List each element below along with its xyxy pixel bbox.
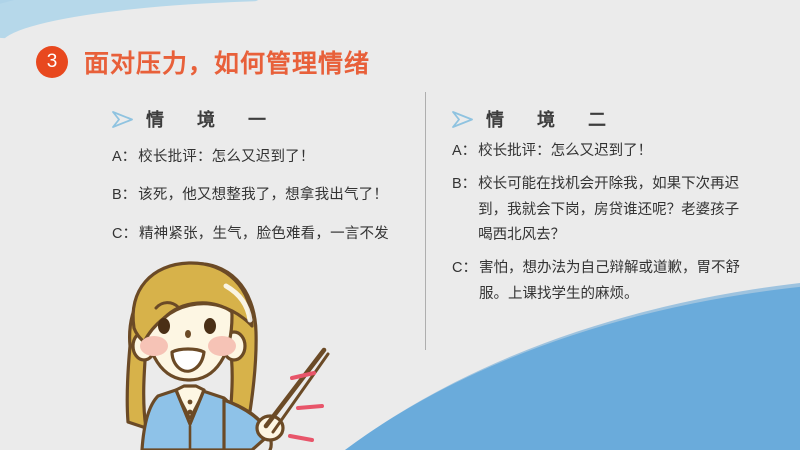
triangle-arrow-icon <box>452 111 474 128</box>
situation-two-title: 情 境 二 <box>486 106 620 132</box>
cartoon-teacher-svg <box>100 250 335 450</box>
situation-two-column: 情 境 二 A： 校长批评：怎么又迟到了！ B： 校长可能在找机会开除我，如果下… <box>452 106 752 308</box>
qa-value: 校长批评：怎么又迟到了！ <box>478 139 752 165</box>
situation-one-header: 情 境 一 <box>112 106 412 132</box>
qa-value: 校长可能在找机会开除我，如果下次再迟到，我就会下岗，房贷谁还呢？老婆孩子喝西北风… <box>478 172 752 249</box>
situation-two-header: 情 境 二 <box>452 106 752 132</box>
qa-value: 该死，他又想整我了，想拿我出气了！ <box>138 183 412 208</box>
triangle-arrow-icon <box>112 111 134 128</box>
page-title: 面对压力，如何管理情绪 <box>84 44 370 80</box>
qa-row: A： 校长批评：怎么又迟到了！ <box>112 145 412 170</box>
qa-key: B： <box>112 183 138 208</box>
column-divider <box>425 92 426 350</box>
slide-canvas: 3 面对压力，如何管理情绪 情 境 一 A： 校长批评：怎么又迟到了！ B： 该… <box>0 0 800 450</box>
qa-key: A： <box>452 139 478 165</box>
qa-key: C： <box>452 256 479 282</box>
qa-key: C： <box>112 222 139 247</box>
qa-value: 校长批评：怎么又迟到了！ <box>138 145 412 170</box>
situation-one-column: 情 境 一 A： 校长批评：怎么又迟到了！ B： 该死，他又想整我了，想拿我出气… <box>112 106 412 247</box>
situation-one-title: 情 境 一 <box>146 106 280 132</box>
section-number-badge: 3 <box>36 46 68 78</box>
qa-value: 害怕，想办法为自己辩解或道歉，胃不舒服。上课找学生的麻烦。 <box>479 256 752 308</box>
qa-value: 精神紧张，生气，脸色难看，一言不发 <box>139 222 412 247</box>
qa-row: B： 该死，他又想整我了，想拿我出气了！ <box>112 183 412 208</box>
cartoon-teacher-illustration <box>100 250 335 450</box>
qa-row: C： 精神紧张，生气，脸色难看，一言不发 <box>112 222 412 247</box>
qa-row: A： 校长批评：怎么又迟到了！ <box>452 139 752 165</box>
qa-key: B： <box>452 172 478 198</box>
qa-row: B： 校长可能在找机会开除我，如果下次再迟到，我就会下岗，房贷谁还呢？老婆孩子喝… <box>452 172 752 249</box>
qa-row: C： 害怕，想办法为自己辩解或道歉，胃不舒服。上课找学生的麻烦。 <box>452 256 752 308</box>
qa-key: A： <box>112 145 138 170</box>
slide-title-row: 3 面对压力，如何管理情绪 <box>36 44 370 80</box>
